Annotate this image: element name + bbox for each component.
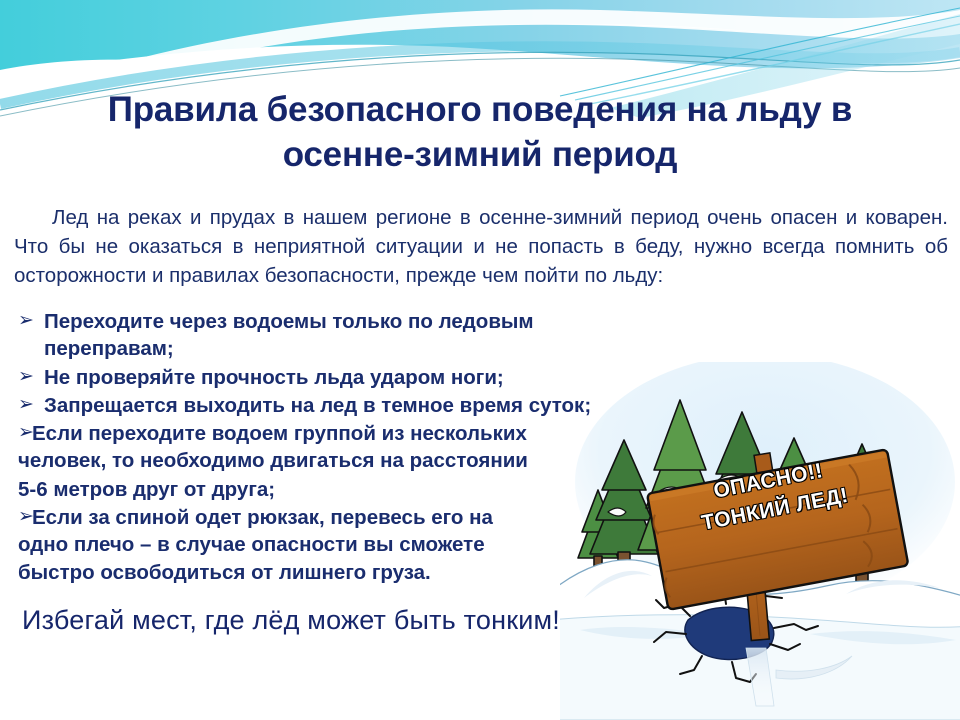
list-item-text: Если переходите водоем группой из нескол…	[32, 420, 658, 447]
list-item-text-continuation: быстро освободиться от лишнего груза.	[18, 559, 658, 586]
list-item-text-continuation: одно плечо – в случае опасности вы сможе…	[18, 531, 658, 558]
list-item: ➢ Не проверяйте прочность льда ударом но…	[18, 364, 658, 391]
bullet-arrow-icon: ➢	[18, 504, 32, 529]
list-item-text-continuation: 5-6 метров друг от друга;	[18, 476, 658, 503]
list-item-text: Если за спиной одет рюкзак, перевесь его…	[32, 504, 658, 531]
sign-text-line-2: ТОНКИЙ ЛЕД!	[700, 484, 851, 536]
sign-text-line-1: ОПАСНО!!	[712, 459, 825, 504]
list-item: ➢ Если переходите водоем группой из неск…	[18, 420, 658, 447]
list-item-text: Переходите через водоемы только по ледов…	[44, 308, 658, 363]
list-item-text: Запрещается выходить на лед в темное вре…	[44, 392, 658, 419]
list-item: ➢ Переходите через водоемы только по лед…	[18, 308, 658, 363]
bullet-arrow-icon: ➢	[18, 364, 44, 389]
list-item-text: Не проверяйте прочность льда ударом ноги…	[44, 364, 658, 391]
safety-rules-list: ➢ Переходите через водоемы только по лед…	[18, 308, 658, 588]
closing-statement: Избегай мест, где лёд может быть тонким!	[22, 605, 560, 636]
slide-root: Правила безопасного поведения на льду в …	[0, 0, 960, 720]
title-line-1: Правила безопасного поведения на льду в	[30, 88, 930, 133]
list-item-text-continuation: человек, то необходимо двигаться на расс…	[18, 447, 658, 474]
title-line-2: осенне-зимний период	[30, 133, 930, 178]
bullet-arrow-icon: ➢	[18, 392, 44, 417]
page-title: Правила безопасного поведения на льду в …	[30, 88, 930, 178]
bullet-arrow-icon: ➢	[18, 308, 44, 333]
intro-paragraph: Лед на реках и прудах в нашем регионе в …	[14, 203, 948, 290]
bullet-arrow-icon: ➢	[18, 420, 32, 445]
list-item: ➢ Запрещается выходить на лед в темное в…	[18, 392, 658, 419]
list-item: ➢ Если за спиной одет рюкзак, перевесь е…	[18, 504, 658, 531]
